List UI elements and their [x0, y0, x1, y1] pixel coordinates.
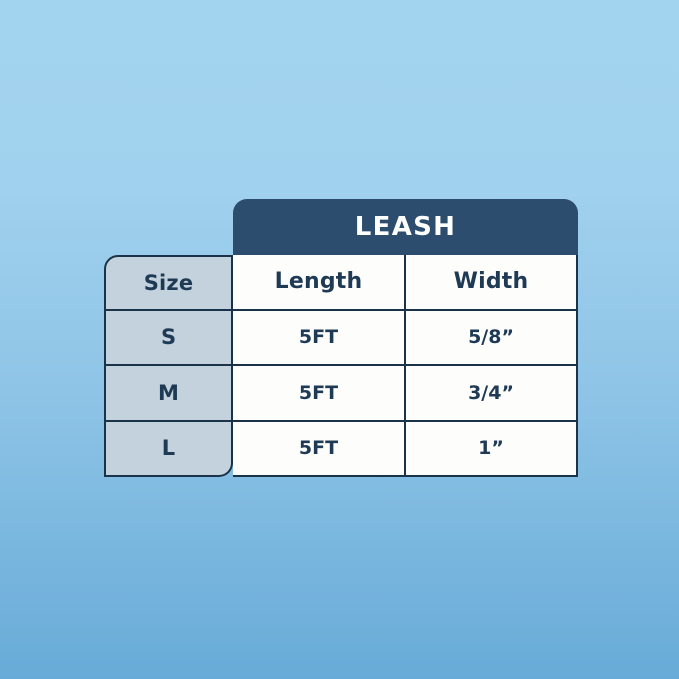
cell-width-l: 1”: [406, 422, 578, 478]
table-row: S 5FT 5/8”: [104, 311, 578, 367]
chart-title-text: LEASH: [355, 214, 456, 242]
table-row: M 5FT 3/4”: [104, 366, 578, 422]
column-header-length: Length: [233, 255, 406, 311]
cell-width-m: 3/4”: [406, 366, 578, 422]
cell-length-s: 5FT: [233, 311, 406, 367]
table-header-row: Size Length Width: [104, 255, 578, 311]
cell-length-m: 5FT: [233, 366, 406, 422]
cell-length-l: 5FT: [233, 422, 406, 478]
column-header-width: Width: [406, 255, 578, 311]
chart-title-banner: LEASH: [233, 199, 578, 256]
cell-size-l: L: [104, 422, 233, 478]
cell-size-m: M: [104, 366, 233, 422]
leash-size-chart: LEASH Size Length Width S 5FT 5/8” M 5FT…: [104, 199, 578, 477]
table-row: L 5FT 1”: [104, 422, 578, 478]
chart-grid: Size Length Width S 5FT 5/8” M 5FT 3/4” …: [104, 255, 578, 477]
column-header-size: Size: [104, 255, 233, 311]
cell-width-s: 5/8”: [406, 311, 578, 367]
cell-size-s: S: [104, 311, 233, 367]
